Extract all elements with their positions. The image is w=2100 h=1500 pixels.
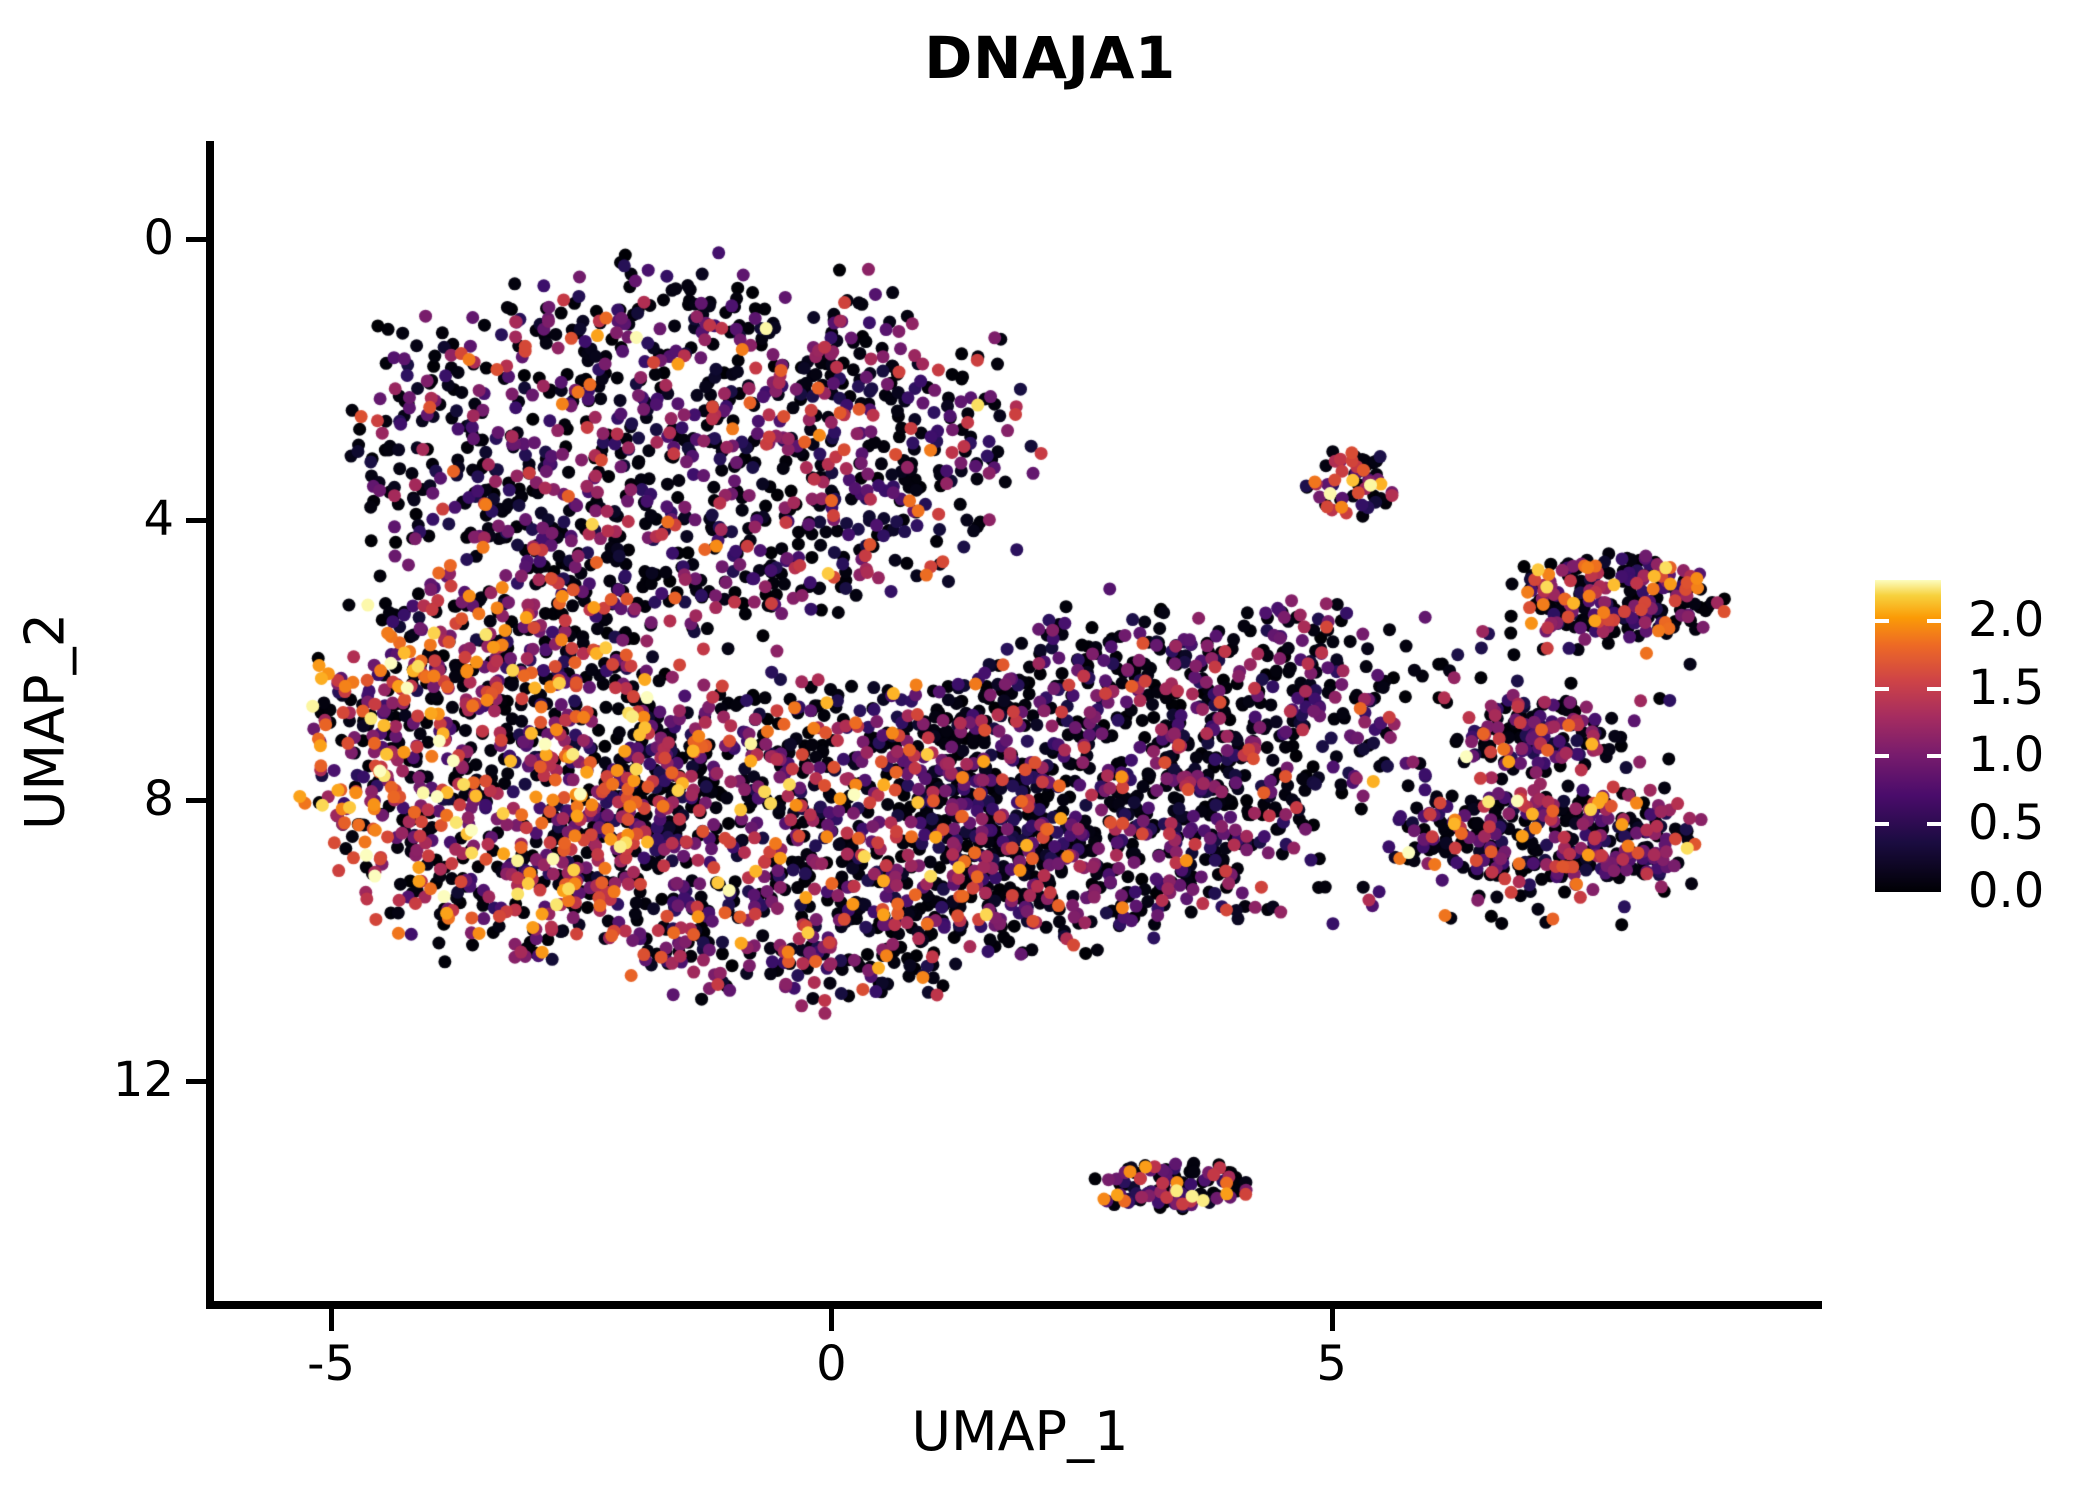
x-tick-label: -5 bbox=[231, 1340, 431, 1388]
colorbar-tick-label: 1.0 bbox=[1968, 731, 2100, 779]
colorbar-tick-label: 0.0 bbox=[1968, 867, 2100, 915]
colorbar-tick-mark bbox=[1875, 822, 1889, 826]
y-axis-spine bbox=[206, 141, 214, 1309]
y-tick-label: 0 bbox=[34, 214, 174, 262]
colorbar-tick-mark bbox=[1927, 687, 1941, 691]
colorbar-tick-mark bbox=[1927, 754, 1941, 758]
x-tick-mark bbox=[1330, 1309, 1335, 1331]
x-axis-spine bbox=[206, 1301, 1822, 1309]
colorbar-tick-label: 2.0 bbox=[1968, 596, 2100, 644]
colorbar-tick-mark bbox=[1927, 822, 1941, 826]
colorbar bbox=[1875, 580, 1941, 892]
x-tick-label: 0 bbox=[731, 1340, 931, 1388]
y-axis-label: UMAP_2 bbox=[14, 422, 77, 1022]
y-tick-label: 12 bbox=[34, 1056, 174, 1104]
y-tick-mark bbox=[186, 798, 206, 803]
colorbar-tick-label: 0.5 bbox=[1968, 799, 2100, 847]
scatter-plot-canvas bbox=[211, 141, 1822, 1305]
colorbar-tick-mark bbox=[1875, 619, 1889, 623]
y-tick-mark bbox=[186, 1079, 206, 1084]
colorbar-tick-mark bbox=[1875, 687, 1889, 691]
colorbar-tick-mark bbox=[1875, 754, 1889, 758]
colorbar-tick-mark bbox=[1927, 619, 1941, 623]
colorbar-tick-label: 1.5 bbox=[1968, 664, 2100, 712]
x-axis-label: UMAP_1 bbox=[0, 1400, 2040, 1463]
y-tick-mark bbox=[186, 237, 206, 242]
y-tick-mark bbox=[186, 518, 206, 523]
x-tick-mark bbox=[829, 1309, 834, 1331]
colorbar-gradient bbox=[1875, 580, 1941, 892]
x-tick-mark bbox=[329, 1309, 334, 1331]
page-title: DNAJA1 bbox=[0, 24, 2100, 92]
umap-feature-plot: DNAJA1 12840 -505 UMAP_1 UMAP_2 2.01.51.… bbox=[0, 0, 2100, 1500]
x-tick-label: 5 bbox=[1232, 1340, 1432, 1388]
